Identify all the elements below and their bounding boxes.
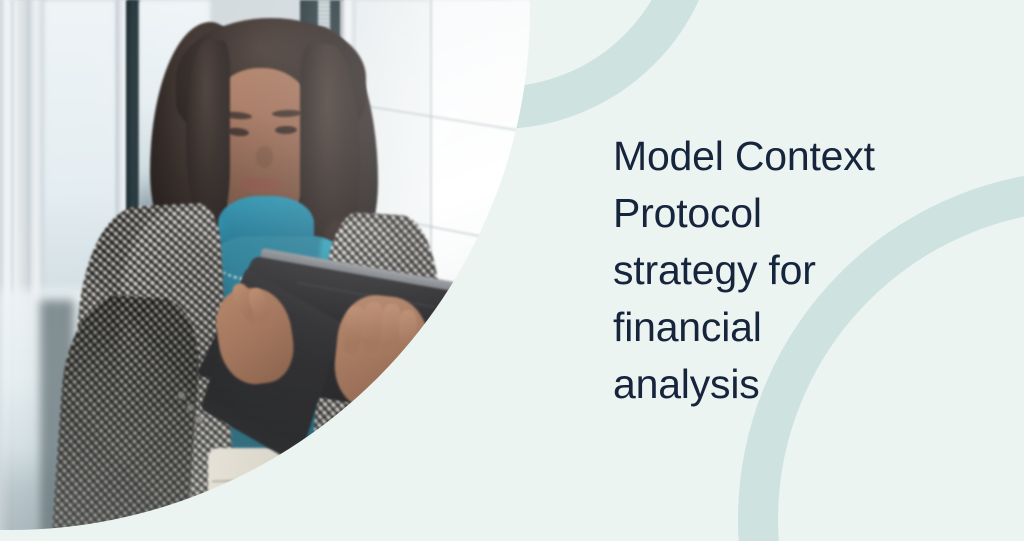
page-title: Model Context Protocol strategy for fina…	[613, 128, 973, 413]
hero-photo-image	[0, 0, 560, 541]
finger	[399, 310, 417, 356]
trouser-pleat	[256, 488, 258, 541]
trousers	[208, 448, 358, 541]
trouser-button	[304, 466, 313, 475]
nose	[256, 146, 273, 168]
banner: Model Context Protocol strategy for fina…	[0, 0, 1024, 541]
hero-photo	[0, 0, 560, 541]
office-wall-panel	[430, 0, 560, 300]
blazer-button	[196, 416, 203, 423]
hair-strand	[186, 40, 230, 230]
turtleneck-cuff	[371, 392, 438, 427]
